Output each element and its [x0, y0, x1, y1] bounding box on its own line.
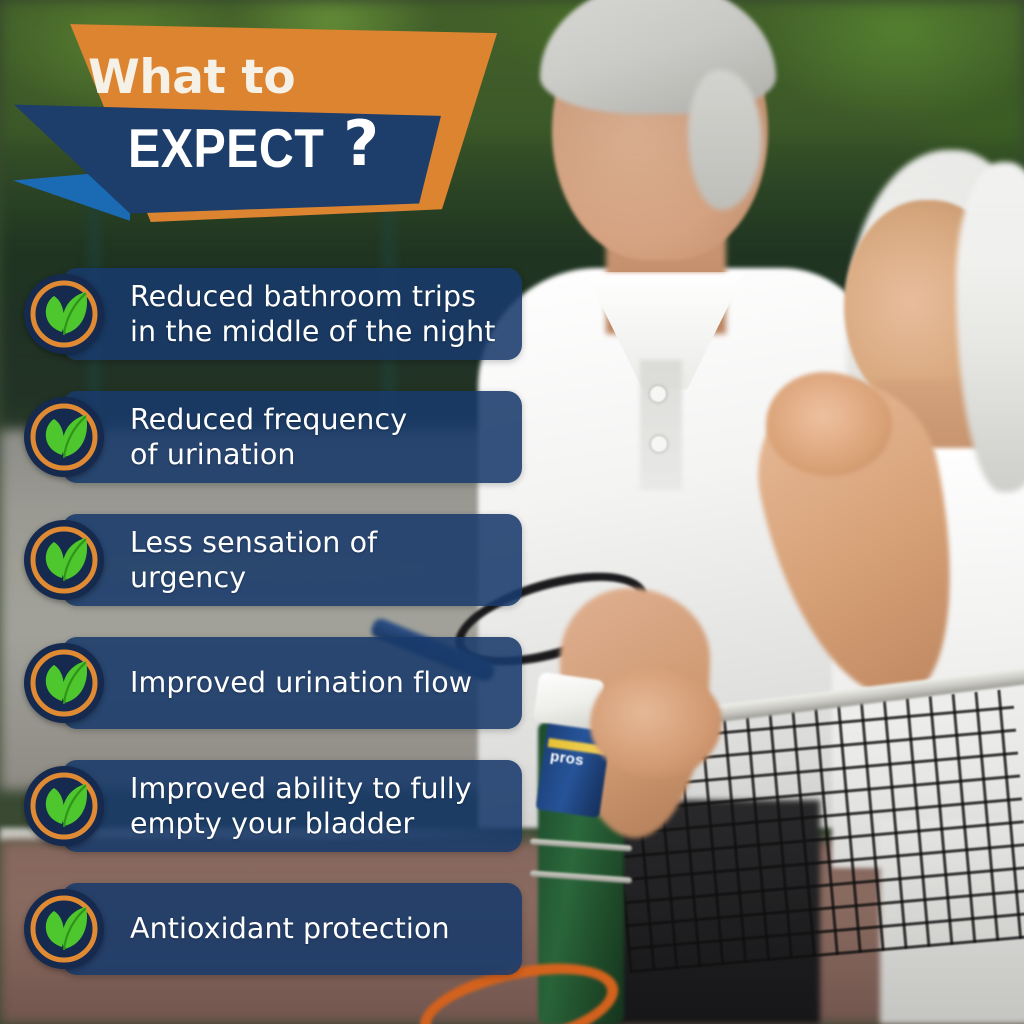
header-title-line2-group: EXPECT ? [128, 121, 379, 176]
benefit-pill: Antioxidant protection [62, 883, 522, 975]
leaf-icon [24, 274, 104, 354]
benefit-pill: Improved ability to fully empty your bla… [62, 760, 522, 852]
leaf-icon [24, 520, 104, 600]
benefit-label: Reduced bathroom trips in the middle of … [62, 279, 512, 349]
benefit-label: Antioxidant protection [62, 911, 466, 946]
infographic-canvas: pros What to EXPECT ? Reduced bathroom t… [0, 0, 1024, 1024]
benefit-label: Improved urination flow [62, 665, 488, 700]
leaf-icon [24, 766, 104, 846]
benefit-pill: Improved urination flow [62, 637, 522, 729]
benefit-label: Improved ability to fully empty your bla… [62, 771, 488, 841]
benefit-pill: Reduced bathroom trips in the middle of … [62, 268, 522, 360]
leaf-icon [24, 643, 104, 723]
header-title-expect: EXPECT [128, 121, 324, 176]
leaf-icon [24, 889, 104, 969]
benefit-pill: Reduced frequency of urination [62, 391, 522, 483]
benefit-label: Reduced frequency of urination [62, 402, 423, 472]
benefit-pill: Less sensation of urgency [62, 514, 522, 606]
header-title-line1: What to [88, 54, 295, 101]
benefit-label: Less sensation of urgency [62, 525, 393, 595]
leaf-icon [24, 397, 104, 477]
question-mark-glyph: ? [343, 115, 379, 172]
header-banner: What to EXPECT ? [0, 0, 560, 250]
